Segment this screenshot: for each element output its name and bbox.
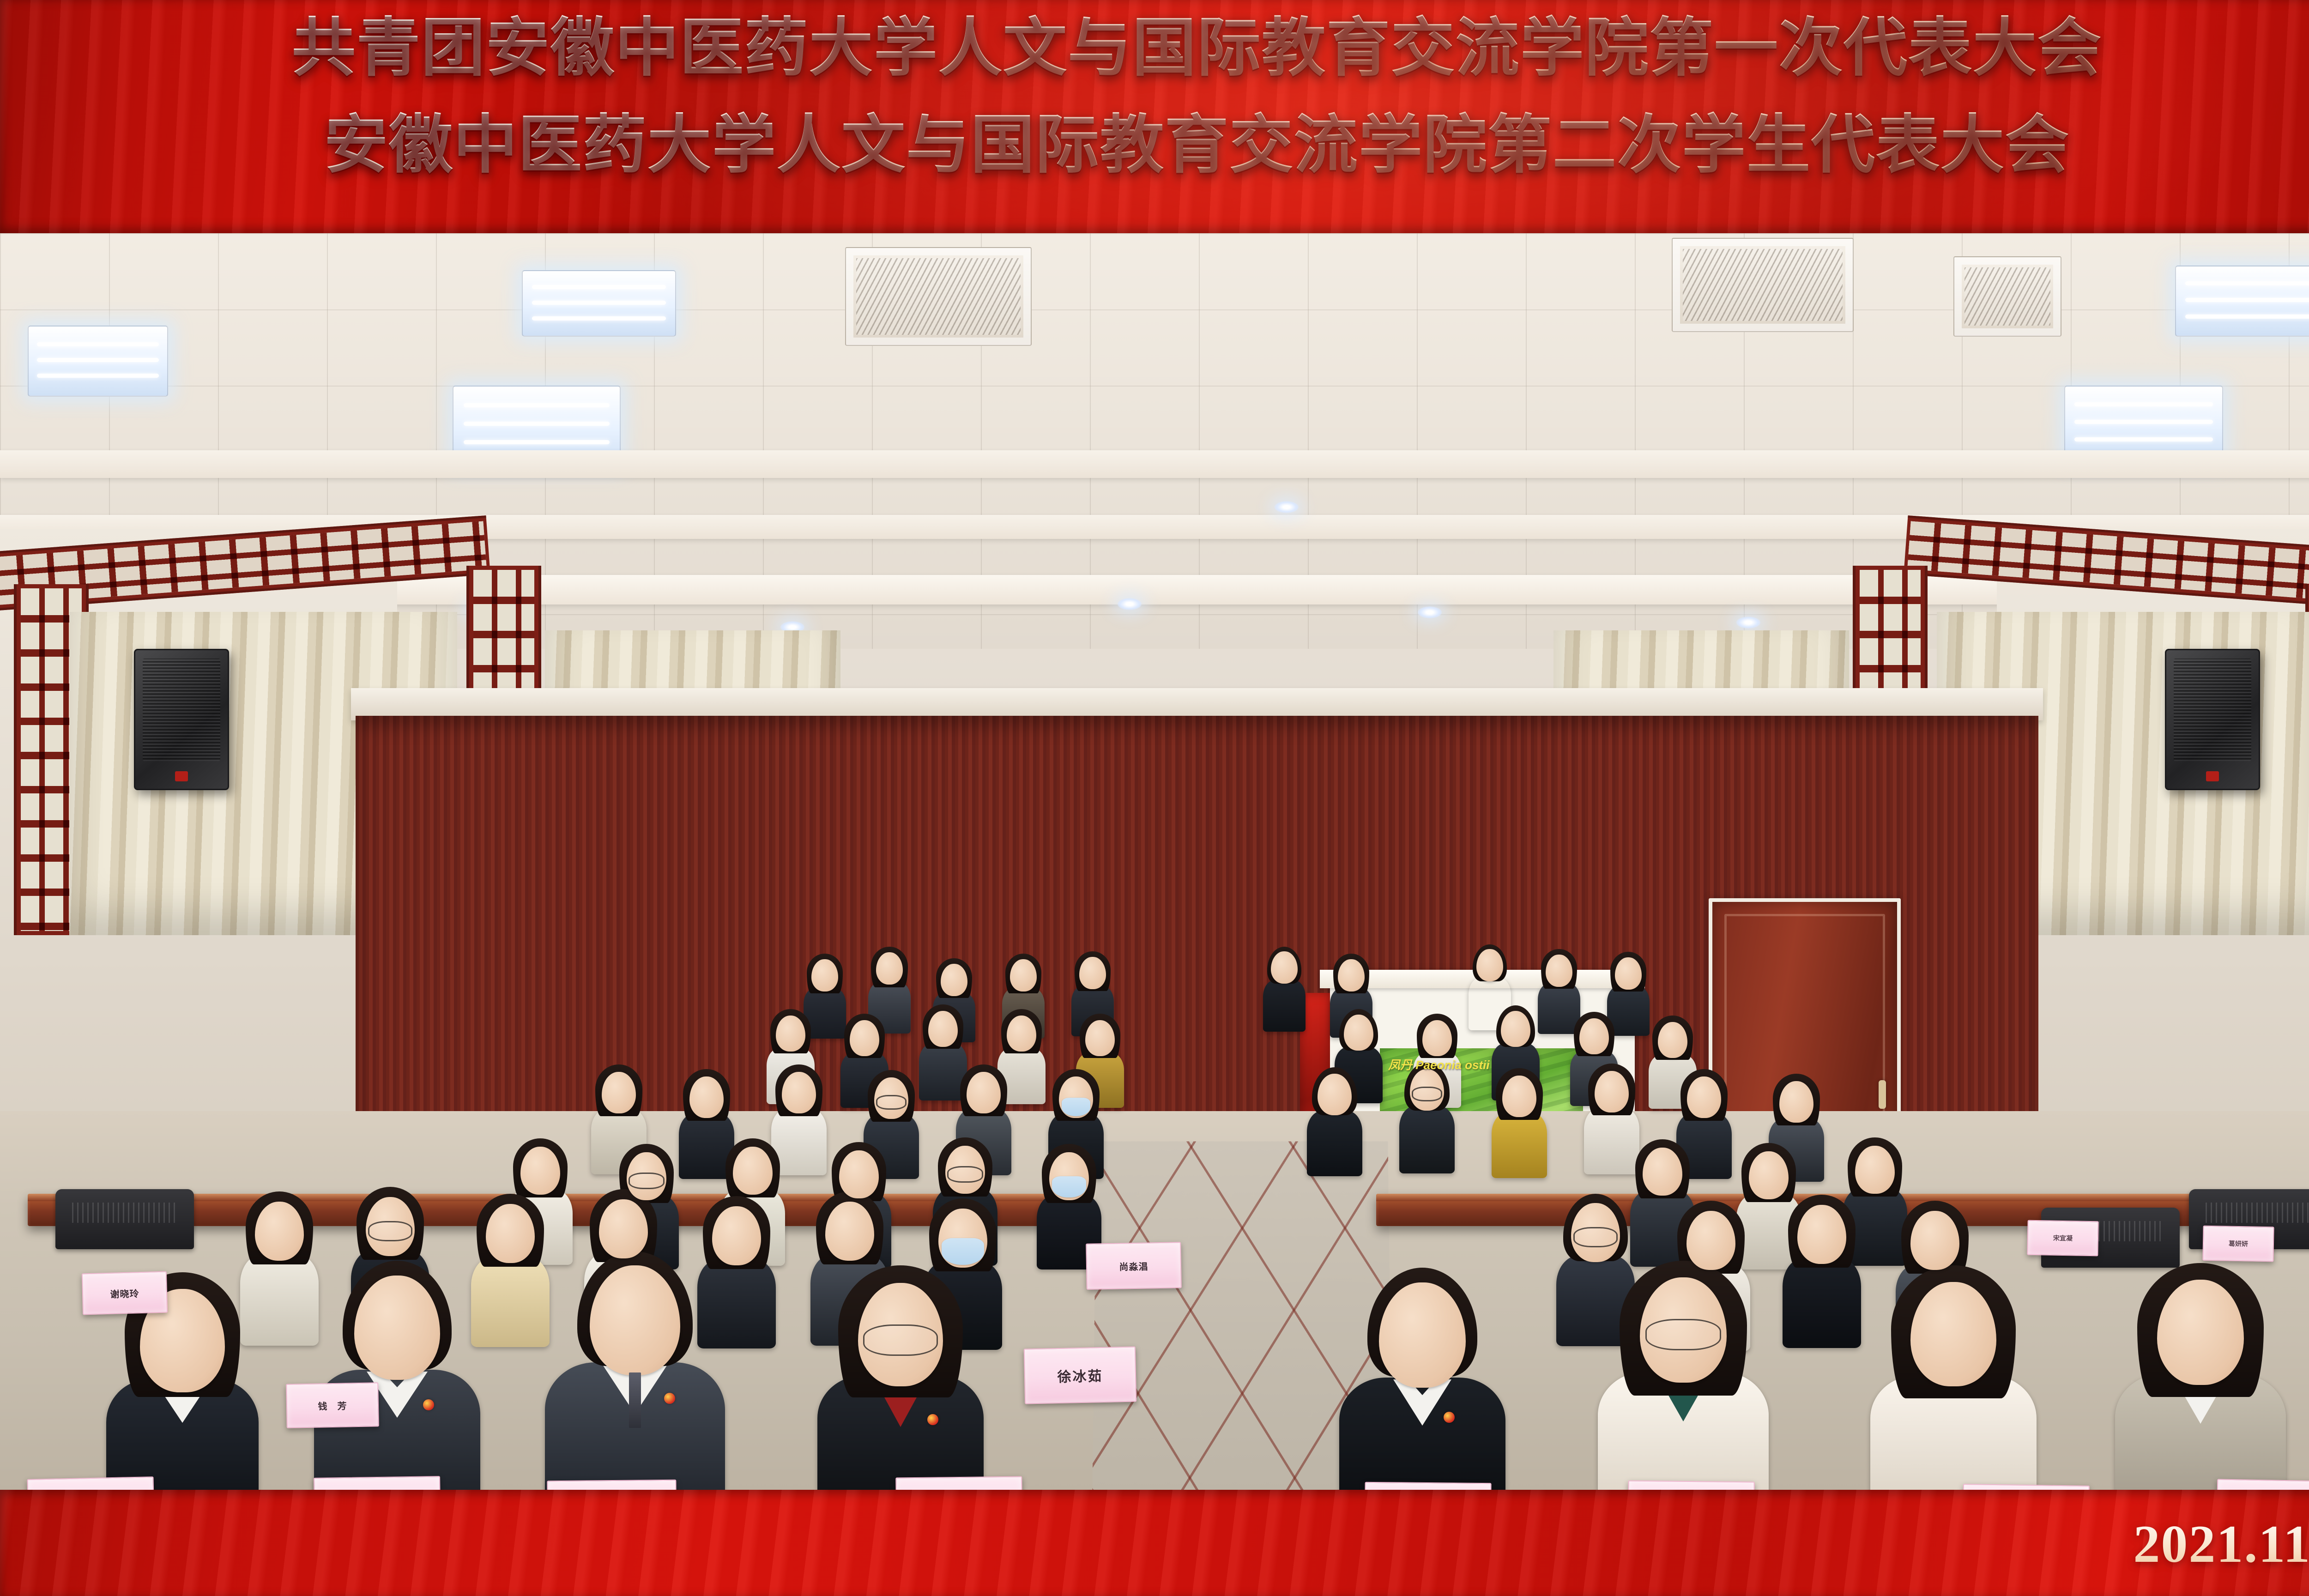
name-placard: 姚为久 (1364, 1482, 1491, 1490)
name-placard: 徐冰茹 (1024, 1346, 1136, 1404)
name-placard: 叶兰兰 (895, 1476, 1022, 1490)
name-placard: 尚淼淐 (1086, 1242, 1182, 1290)
name-placard: 桂大鹏 (547, 1480, 677, 1490)
audience: 谢晓玲 钱 芳 徐冰茹 尚淼淐 宋宜凝 葛妍妍 (0, 233, 2309, 1490)
name-placard: 杨丽莉 (1627, 1481, 1754, 1490)
name-placard: 钱 芳 (286, 1382, 379, 1428)
date-stamp: 2021.11 (2133, 1514, 2309, 1575)
front-row-attendee (314, 1261, 480, 1490)
attendee (1307, 1067, 1362, 1183)
chair-back (55, 1189, 194, 1249)
front-row-attendee (1339, 1268, 1505, 1490)
conference-room: 凤丹 Paeonia ostii (0, 233, 2309, 1490)
attendee (471, 1194, 550, 1355)
banner-title-line-1: 共青团安徽中医药大学人文与国际教育交流学院第一次代表大会 (0, 14, 2309, 83)
front-row-attendee (545, 1251, 725, 1490)
footer-bar: 2021.11 (0, 1490, 2309, 1596)
name-placard: 葛妍妍 (2202, 1226, 2274, 1262)
name-placard: 王 满 (314, 1476, 441, 1490)
attendee (1783, 1195, 1861, 1356)
event-banner: 共青团安徽中医药大学人文与国际教育交流学院第一次代表大会 安徽中医药大学人文与国… (0, 0, 2309, 233)
front-row-attendee (1870, 1265, 2037, 1490)
name-placard: 宋宜凝 (2027, 1220, 2098, 1257)
attendee (1399, 1063, 1455, 1180)
name-placard: 邹红丽 (27, 1476, 155, 1490)
name-placard: 谢晓玲 (82, 1271, 168, 1315)
front-row-attendee (1598, 1261, 1769, 1490)
name-placard: 吴小玲 (1962, 1484, 2090, 1490)
screen-caption: 凤丹 Paeonia ostii (1388, 1056, 1490, 1073)
photo-canvas: 共青团安徽中医药大学人文与国际教育交流学院第一次代表大会 安徽中医药大学人文与国… (0, 0, 2309, 1596)
name-placard: 欧阳菁菁 (2216, 1479, 2309, 1490)
banner-title-line-2: 安徽中医药大学人文与国际教育交流学院第二次学生代表大会 (0, 111, 2309, 180)
front-row-attendee (817, 1265, 984, 1490)
attendee (1492, 1068, 1547, 1184)
front-row-attendee (2115, 1263, 2286, 1490)
attendee (1263, 947, 1306, 1037)
